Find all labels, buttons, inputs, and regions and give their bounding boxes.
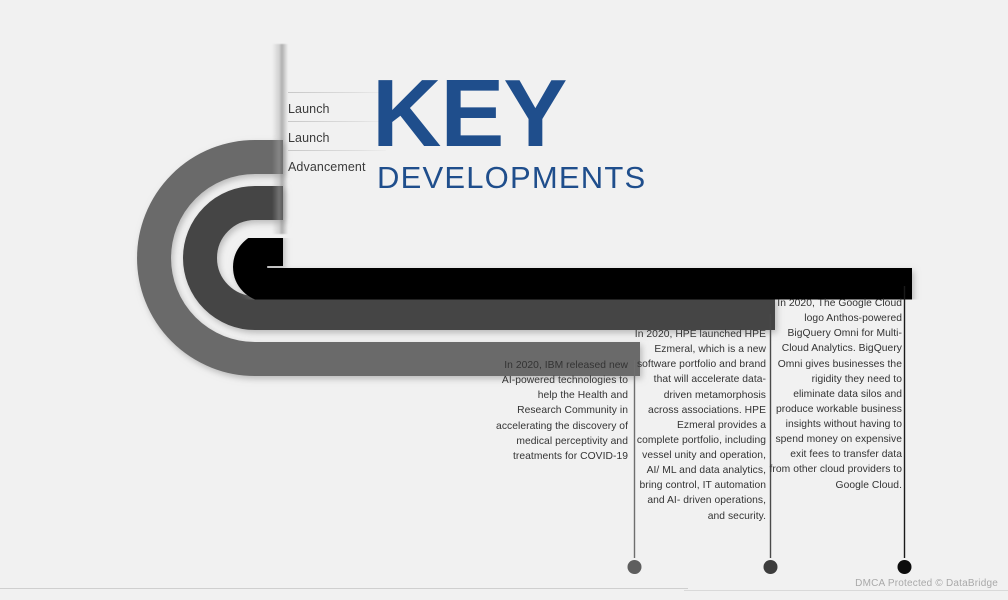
title-main-text: KEY	[372, 68, 622, 160]
callout-text-google-cloud: In 2020, The Google Cloud logo Anthos-po…	[768, 296, 902, 493]
legend-label: Advancement	[288, 156, 366, 174]
page-title: KEY DEVELOPMENTS	[372, 68, 622, 193]
timeline-dot-1[interactable]	[764, 560, 778, 574]
callout-text-hpe: In 2020, HPE launched HPE Ezmeral, which…	[632, 327, 766, 524]
legend-label: Launch	[288, 127, 330, 145]
footer-baseline-right	[684, 590, 1008, 591]
title-sub-text: DEVELOPMENTS	[377, 162, 622, 193]
footer-baseline-left	[0, 588, 688, 589]
timeline-dot-2[interactable]	[898, 560, 912, 574]
vertical-shadow-strip	[272, 44, 288, 234]
watermark-text: DMCA Protected © DataBridge	[855, 578, 998, 589]
callout-text-ibm: In 2020, IBM released new AI-powered tec…	[496, 358, 628, 464]
band-inner	[250, 249, 912, 285]
infographic-canvas: Launch Launch Advancement KEY DEVELOPMEN…	[0, 0, 1008, 600]
legend-label: Launch	[288, 98, 330, 116]
timeline-dot-0[interactable]	[628, 560, 642, 574]
